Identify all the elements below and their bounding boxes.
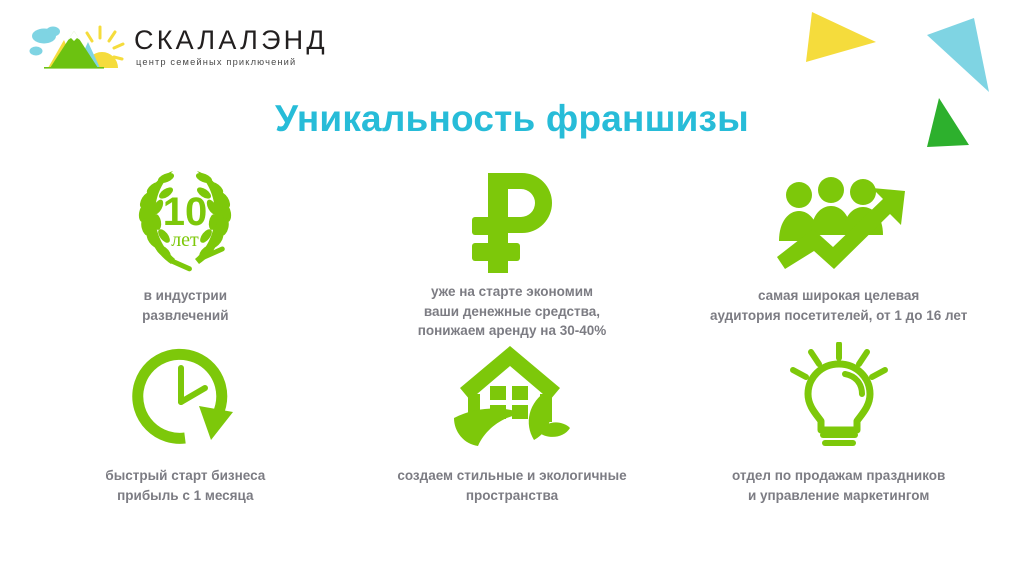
yellow-triangle xyxy=(806,12,876,62)
light-blue-triangle xyxy=(927,18,989,92)
feature-icon-wrap: 10 лет xyxy=(125,165,245,277)
feature-icon-wrap xyxy=(129,340,241,452)
feature-item-eco-space: создаем стильные и экологичные пространс… xyxy=(349,340,676,515)
caption-line: и управление маркетингом xyxy=(732,486,945,506)
brand-tagline: центр семейных приключений xyxy=(134,57,328,67)
feature-caption: отдел по продажам праздников и управлени… xyxy=(732,466,945,505)
caption-line: развлечений xyxy=(142,306,228,326)
feature-caption: быстрый старт бизнеса прибыль с 1 месяца xyxy=(105,466,265,505)
feature-icon-wrap xyxy=(460,165,564,273)
feature-item-years: 10 лет в индустрии развлечений xyxy=(22,165,349,340)
caption-line: самая широкая целевая xyxy=(710,286,967,306)
caption-line: аудитория посетителей, от 1 до 16 лет xyxy=(710,306,967,326)
feature-item-fast-start: быстрый старт бизнеса прибыль с 1 месяца xyxy=(22,340,349,515)
mountain-sun-cloud-icon xyxy=(24,18,128,76)
caption-line: создаем стильные и экологичные xyxy=(397,466,626,486)
feature-icon-wrap xyxy=(452,340,572,452)
years-unit: лет xyxy=(172,229,200,251)
caption-line: отдел по продажам праздников xyxy=(732,466,945,486)
caption-line: уже на старте экономим xyxy=(418,282,607,302)
feature-caption: уже на старте экономим ваши денежные сре… xyxy=(418,282,607,341)
years-number: 10 xyxy=(163,190,208,234)
brand-name: СКАЛАЛЭНД xyxy=(134,26,328,54)
features-grid: 10 лет в индустрии развлечений xyxy=(22,165,1002,515)
page-title: Уникальность франшизы xyxy=(0,98,1024,140)
laurel-wreath-10-years-icon: 10 лет xyxy=(125,167,245,275)
lightbulb-idea-icon xyxy=(783,342,895,450)
feature-icon-wrap xyxy=(783,340,895,452)
feature-caption: создаем стильные и экологичные пространс… xyxy=(397,466,626,505)
caption-line: понижаем аренду на 30-40% xyxy=(418,321,607,341)
feature-item-savings: уже на старте экономим ваши денежные сре… xyxy=(349,165,676,340)
caption-line: быстрый старт бизнеса xyxy=(105,466,265,486)
decorative-triangles xyxy=(794,0,1024,170)
slide-canvas: СКАЛАЛЭНД центр семейных приключений Уни… xyxy=(0,0,1024,586)
caption-line: прибыль с 1 месяца xyxy=(105,486,265,506)
caption-line: ваши денежные средства, xyxy=(418,302,607,322)
caption-line: в индустрии xyxy=(142,286,228,306)
feature-icon-wrap xyxy=(771,165,907,277)
people-growth-arrow-icon xyxy=(771,169,907,273)
brand-logo[interactable]: СКАЛАЛЭНД центр семейных приключений xyxy=(24,18,328,76)
feature-caption: в индустрии развлечений xyxy=(142,286,228,325)
ruble-sign-icon xyxy=(460,165,564,273)
feature-caption: самая широкая целевая аудитория посетите… xyxy=(710,286,967,325)
feature-item-sales-marketing: отдел по продажам праздников и управлени… xyxy=(675,340,1002,515)
feature-item-audience: самая широкая целевая аудитория посетите… xyxy=(675,165,1002,340)
arrow-head xyxy=(199,406,233,440)
eco-house-leaves-icon xyxy=(452,342,572,450)
clock-refresh-icon xyxy=(129,344,241,448)
caption-line: пространства xyxy=(397,486,626,506)
